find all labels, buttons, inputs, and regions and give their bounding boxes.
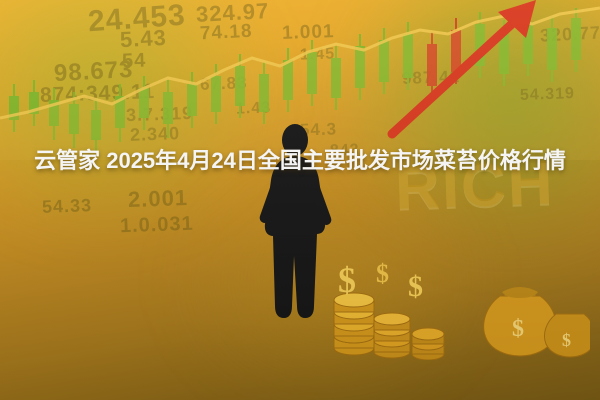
svg-text:$: $ xyxy=(376,259,389,288)
dollar-sign-icons: $ $ $ xyxy=(330,252,450,332)
page-title: 云管家 2025年4月24日全国主要批发市场菜苔价格行情 xyxy=(0,142,600,180)
promo-banner-image: 24.453324.975.4374.18541.00198.6731.4587… xyxy=(0,0,600,400)
svg-text:$: $ xyxy=(512,316,524,342)
svg-text:$: $ xyxy=(562,330,571,350)
money-bag-icons: $ $ xyxy=(480,252,590,372)
svg-text:$: $ xyxy=(408,270,423,303)
svg-text:$: $ xyxy=(338,260,356,300)
